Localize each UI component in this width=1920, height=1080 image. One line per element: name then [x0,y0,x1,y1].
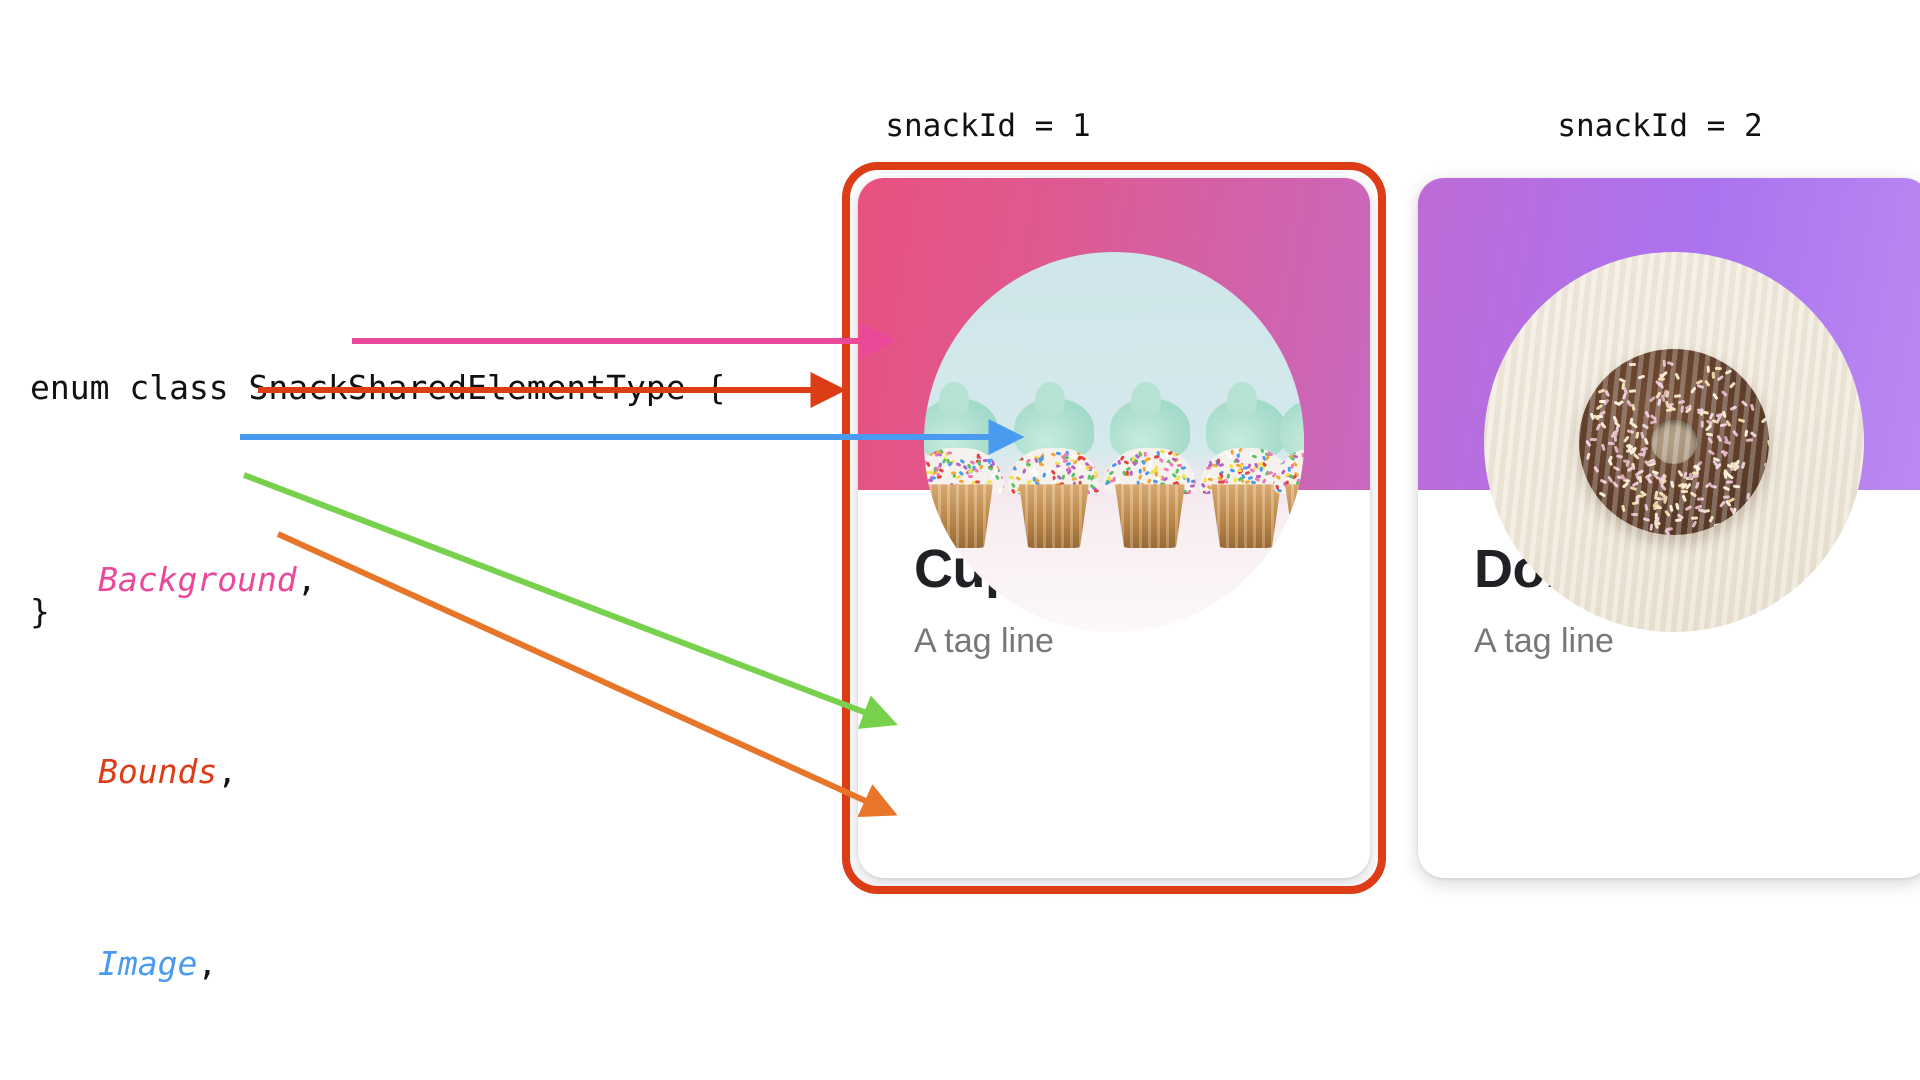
enum-value-image: Image [98,944,197,983]
snack-card-donut[interactable]: Donut A tag line [1418,178,1920,878]
code-snippet: enum class SnackSharedElementType { Back… [30,268,725,1080]
enum-value-background: Background [98,560,297,599]
enum-value-bounds: Bounds [98,752,217,791]
code-line-image: Image, [30,940,725,988]
comma-background: , [297,560,317,599]
code-line-closing-brace: } [30,592,50,631]
code-line-bounds: Bounds, [30,748,725,796]
donut-photo [1484,252,1864,632]
caption-snack-id-2: snackId = 2 [1557,108,1762,144]
code-line-header: enum class SnackSharedElementType { [30,364,725,412]
comma-image: , [197,944,217,983]
card-background-gradient [858,178,1370,490]
code-line-background: Background, [30,556,725,604]
caption-snack-id-1: snackId = 1 [885,108,1090,144]
snack-card-cupcake[interactable]: Cupcake A tag line [858,178,1370,878]
cupcake-photo [924,252,1304,632]
card-background-gradient [1418,178,1920,490]
diagram-canvas: enum class SnackSharedElementType { Back… [0,0,1920,1080]
comma-bounds: , [217,752,237,791]
